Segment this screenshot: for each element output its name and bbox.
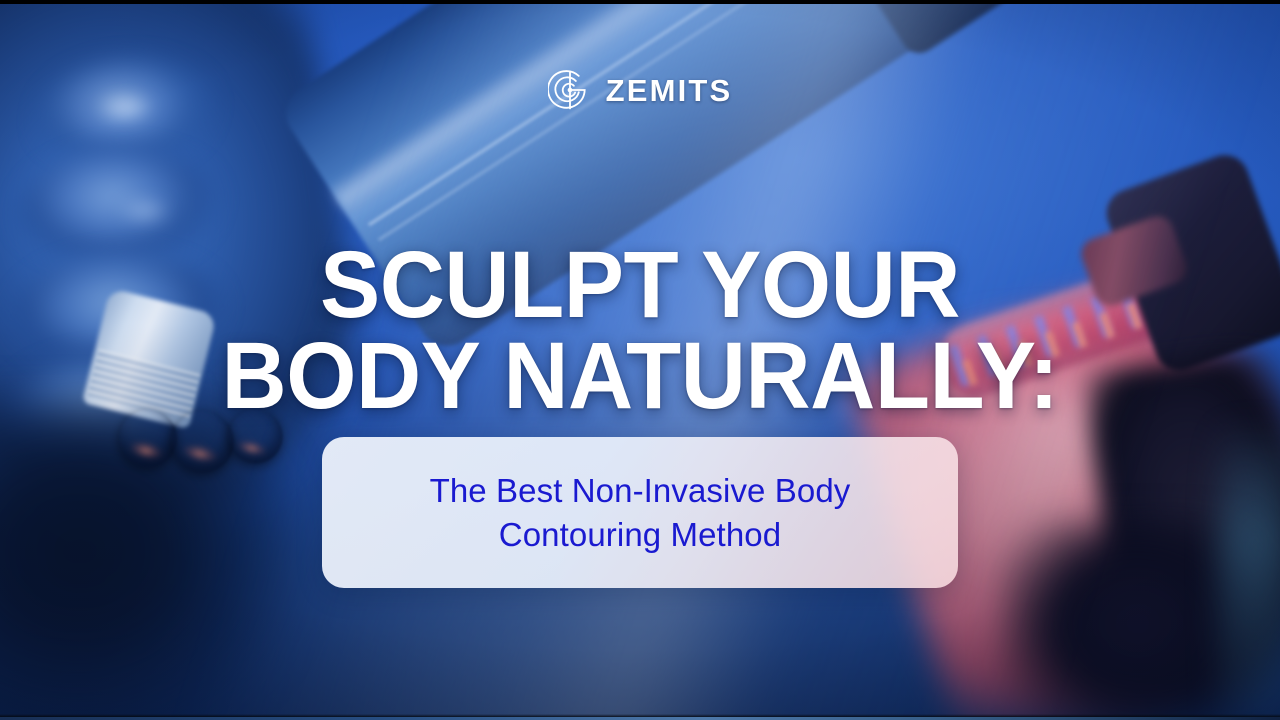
zemits-target-spiral-icon: [548, 68, 592, 112]
subtitle-card: The Best Non-Invasive Body Contouring Me…: [322, 437, 958, 588]
subtitle-line-1: The Best Non-Invasive Body: [430, 469, 851, 513]
letterbox-top: [0, 0, 1280, 4]
headline-line-1: SCULPT YOUR: [32, 240, 1248, 331]
subtitle-text: The Best Non-Invasive Body Contouring Me…: [404, 469, 877, 557]
brand-name: ZEMITS: [606, 75, 733, 106]
page-title: SCULPT YOUR BODY NATURALLY:: [0, 240, 1280, 422]
brand-lockup: ZEMITS: [0, 68, 1280, 112]
headline-line-2: BODY NATURALLY:: [32, 331, 1248, 422]
overlay-content: ZEMITS SCULPT YOUR BODY NATURALLY: The B…: [0, 0, 1280, 720]
subtitle-line-2: Contouring Method: [430, 513, 851, 557]
video-thumbnail: ZEMITS SCULPT YOUR BODY NATURALLY: The B…: [0, 0, 1280, 720]
